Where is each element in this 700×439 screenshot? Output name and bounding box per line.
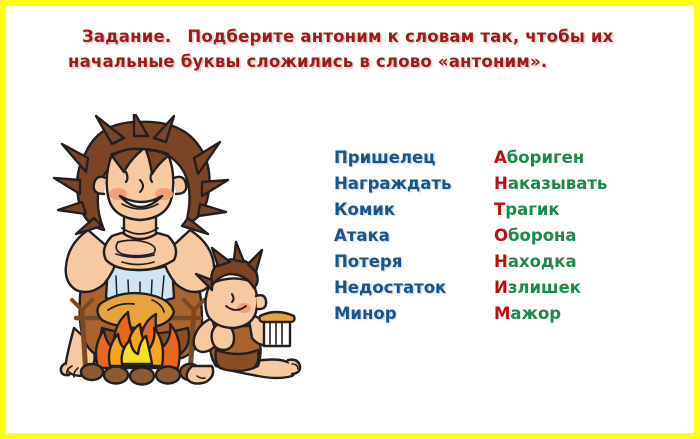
right-word-initial: А xyxy=(494,148,507,167)
table-row: Минор Мажор xyxy=(334,304,634,330)
table-row: Награждать Наказывать xyxy=(334,174,634,200)
right-word: Трагик xyxy=(494,200,560,219)
title-line-2: начальные буквы сложились в слово «антон… xyxy=(68,49,638,74)
left-word: Минор xyxy=(334,304,494,323)
right-word-initial: И xyxy=(494,278,508,297)
table-row: Комик Трагик xyxy=(334,200,634,226)
right-word-rest: аказывать xyxy=(508,174,608,193)
right-word: Излишек xyxy=(494,278,581,297)
left-word: Потеря xyxy=(334,252,494,271)
slide-root: Задание.Подберите антоним к словам так, … xyxy=(0,0,700,439)
right-word-initial: М xyxy=(494,304,510,323)
title-task-label: Задание. xyxy=(82,27,171,46)
left-word: Атака xyxy=(334,226,494,245)
table-row: Пришелец Абориген xyxy=(334,148,634,174)
table-row: Недостаток Излишек xyxy=(334,278,634,304)
left-word: Комик xyxy=(334,200,494,219)
right-word: Мажор xyxy=(494,304,561,323)
right-word-rest: рагик xyxy=(505,200,559,219)
table-row: Потеря Находка xyxy=(334,252,634,278)
caveman-campfire-illustration xyxy=(42,114,314,386)
right-word-rest: бориген xyxy=(507,148,584,167)
right-word-initial: Н xyxy=(494,174,508,193)
right-word: Наказывать xyxy=(494,174,607,193)
left-word: Награждать xyxy=(334,174,494,193)
right-word-rest: ажор xyxy=(510,304,561,323)
right-word-rest: злишек xyxy=(508,278,581,297)
left-word: Пришелец xyxy=(334,148,494,167)
right-word-initial: Т xyxy=(494,200,505,219)
title-line-1: Задание.Подберите антоним к словам так, … xyxy=(68,24,638,49)
right-word-initial: О xyxy=(494,226,508,245)
page-title: Задание.Подберите антоним к словам так, … xyxy=(68,24,638,74)
table-row: Атака Оборона xyxy=(334,226,634,252)
right-word: Абориген xyxy=(494,148,584,167)
antonym-word-table: Пришелец Абориген Награждать Наказывать … xyxy=(334,148,634,330)
right-word-rest: борона xyxy=(508,226,577,245)
right-word: Оборона xyxy=(494,226,577,245)
left-word: Недостаток xyxy=(334,278,494,297)
right-word-rest: аходка xyxy=(508,252,577,271)
title-line-1-rest: Подберите антоним к словам так, чтобы их xyxy=(187,27,613,46)
right-word: Находка xyxy=(494,252,577,271)
right-word-initial: Н xyxy=(494,252,508,271)
